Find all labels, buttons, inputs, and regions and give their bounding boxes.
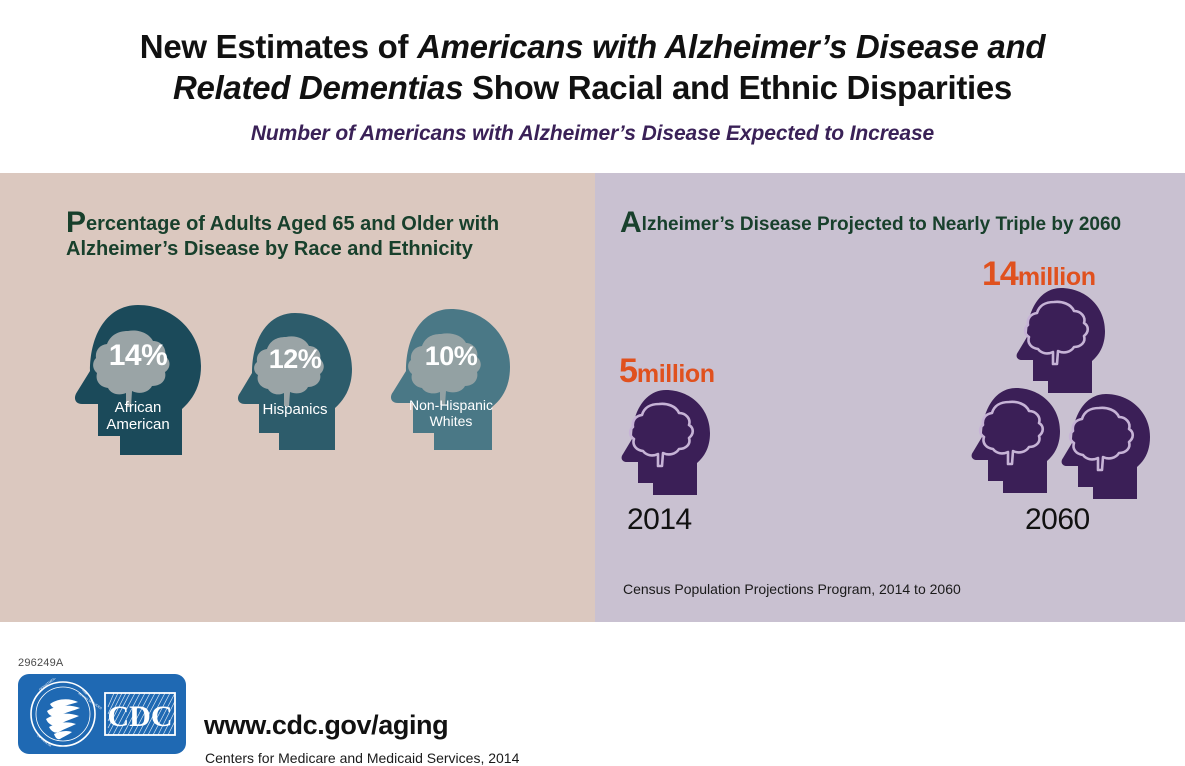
value-number-2014: 5 — [619, 352, 637, 390]
pictogram-non-hispanic-whites: 10% Non-Hispanic Whites — [385, 307, 517, 457]
head-icon — [1057, 392, 1155, 504]
right-panel-source: Census Population Projections Program, 2… — [623, 581, 961, 597]
value-label-african-american: 14% — [68, 339, 208, 373]
cdc-logo-wordmark: CDC — [108, 700, 173, 733]
svg-text:DEPARTMENT: DEPARTMENT — [38, 678, 57, 692]
title-segment-italic-2: Related Dementias — [173, 69, 463, 106]
category-label-line2: American — [106, 416, 169, 433]
pictogram-hispanics: 12% Hispanics — [232, 311, 358, 457]
page-subtitle: Number of Americans with Alzheimer’s Dis… — [251, 122, 934, 146]
pictogram-2014-head — [617, 388, 715, 505]
head-icon — [232, 311, 358, 457]
right-panel: Alzheimer’s Disease Projected to Nearly … — [595, 173, 1185, 622]
head-icon — [385, 307, 517, 457]
title-segment-italic-1: Americans with Alzheimer’s Disease and — [417, 28, 1045, 65]
value-label-hispanics: 12% — [232, 344, 358, 375]
left-panel-source: Centers for Medicare and Medicaid Servic… — [205, 750, 519, 766]
right-panel-heading: Alzheimer’s Disease Projected to Nearly … — [620, 209, 1165, 237]
cdc-url[interactable]: www.cdc.gov/aging — [204, 710, 448, 741]
svg-text:HUMAN SERVICES: HUMAN SERVICES — [77, 692, 102, 711]
head-icon — [1012, 286, 1110, 398]
category-label-non-hispanic-whites: Non-Hispanic Whites — [385, 397, 517, 429]
value-label-2014: 5million — [619, 352, 715, 391]
title-block: New Estimates of Americans with Alzheime… — [0, 0, 1185, 173]
category-label-african-american: African American — [68, 399, 208, 434]
head-icon — [617, 388, 715, 500]
pictogram-2060-head-left — [967, 386, 1065, 503]
right-heading-text: lzheimer’s Disease Projected to Nearly T… — [642, 214, 1121, 235]
svg-text:OF HEALTH: OF HEALTH — [36, 734, 52, 748]
cdc-logo: DEPARTMENT HUMAN SERVICES OF HEALTH USA — [18, 674, 186, 754]
cdc-logo-mark: DEPARTMENT HUMAN SERVICES OF HEALTH USA — [22, 678, 182, 750]
pictogram-2060-head-right — [1057, 392, 1155, 509]
pictogram-african-american: 14% African American — [68, 303, 208, 463]
head-icon — [967, 386, 1065, 498]
left-panel: Percentage of Adults Aged 65 and Older w… — [0, 173, 595, 622]
category-label-line2: Whites — [430, 413, 473, 429]
category-label-hispanics: Hispanics — [232, 401, 358, 418]
axis-label-2060: 2060 — [1025, 503, 1090, 537]
category-label-line1: African — [115, 399, 162, 416]
value-label-non-hispanic-whites: 10% — [385, 341, 517, 372]
title-segment-plain-2: Show Racial and Ethnic Disparities — [463, 69, 1012, 106]
page-title: New Estimates of Americans with Alzheime… — [140, 26, 1045, 109]
race-ethnicity-pictogram-group: 14% African American 12% Hispanics — [0, 173, 595, 622]
title-segment-plain-1: New Estimates of — [140, 28, 417, 65]
publication-id: 296249A — [18, 657, 63, 669]
category-label-line1: Non-Hispanic — [409, 397, 493, 413]
category-label-line1: Hispanics — [262, 401, 327, 418]
infographic-root: New Estimates of Americans with Alzheime… — [0, 0, 1185, 622]
head-icon — [68, 303, 208, 463]
value-unit-2014: million — [637, 360, 715, 388]
axis-label-2014: 2014 — [627, 503, 692, 537]
right-heading-dropcap: A — [620, 206, 642, 239]
